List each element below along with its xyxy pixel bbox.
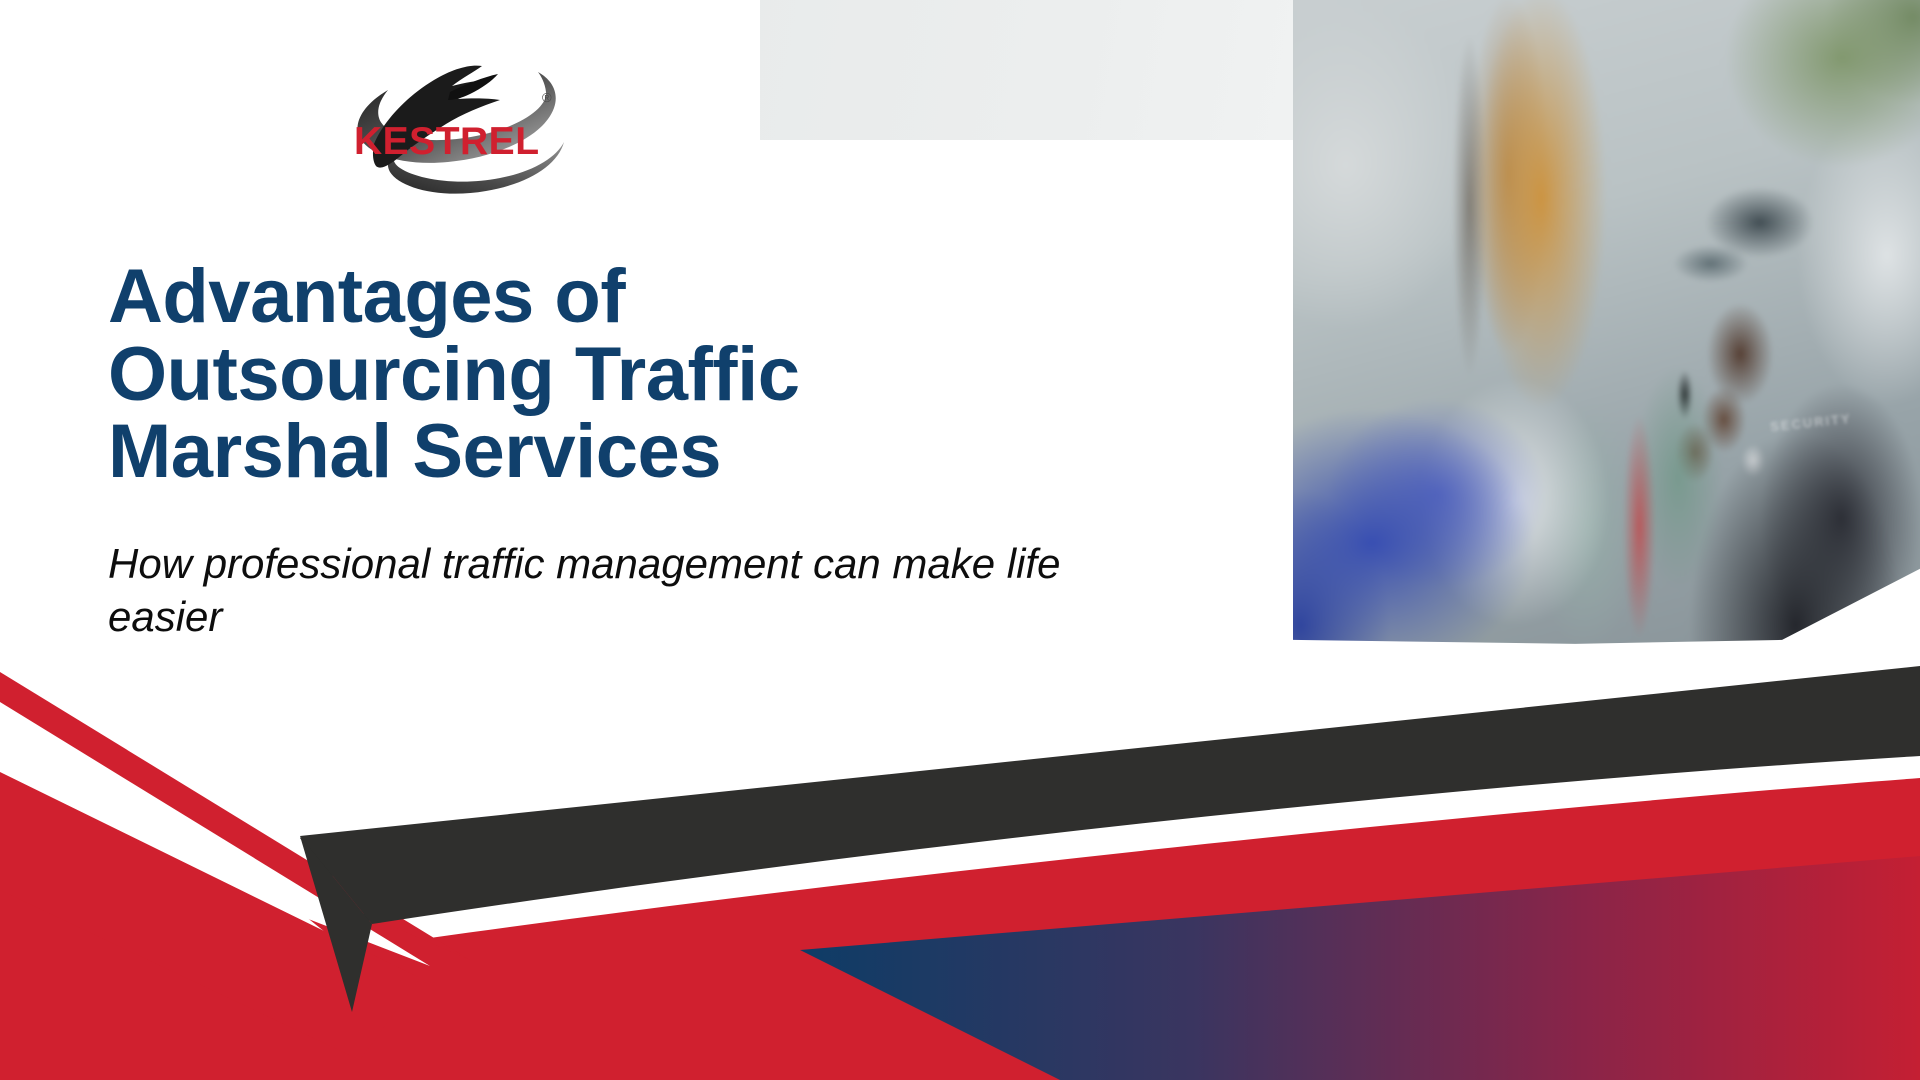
registered-mark: ® — [542, 90, 552, 105]
kestrel-logo: ® KESTREL — [342, 36, 592, 208]
bottom-decorative-graphic — [0, 660, 1920, 1080]
presentation-slide: ® KESTREL Advantages of Outsourcing Traf… — [0, 0, 1920, 1080]
logo-wordmark: KESTREL — [354, 120, 540, 163]
title-block: Advantages of Outsourcing Traffic Marsha… — [108, 258, 1248, 644]
slide-title: Advantages of Outsourcing Traffic Marsha… — [108, 258, 1248, 491]
slide-subtitle: How professional traffic management can … — [108, 537, 1168, 645]
